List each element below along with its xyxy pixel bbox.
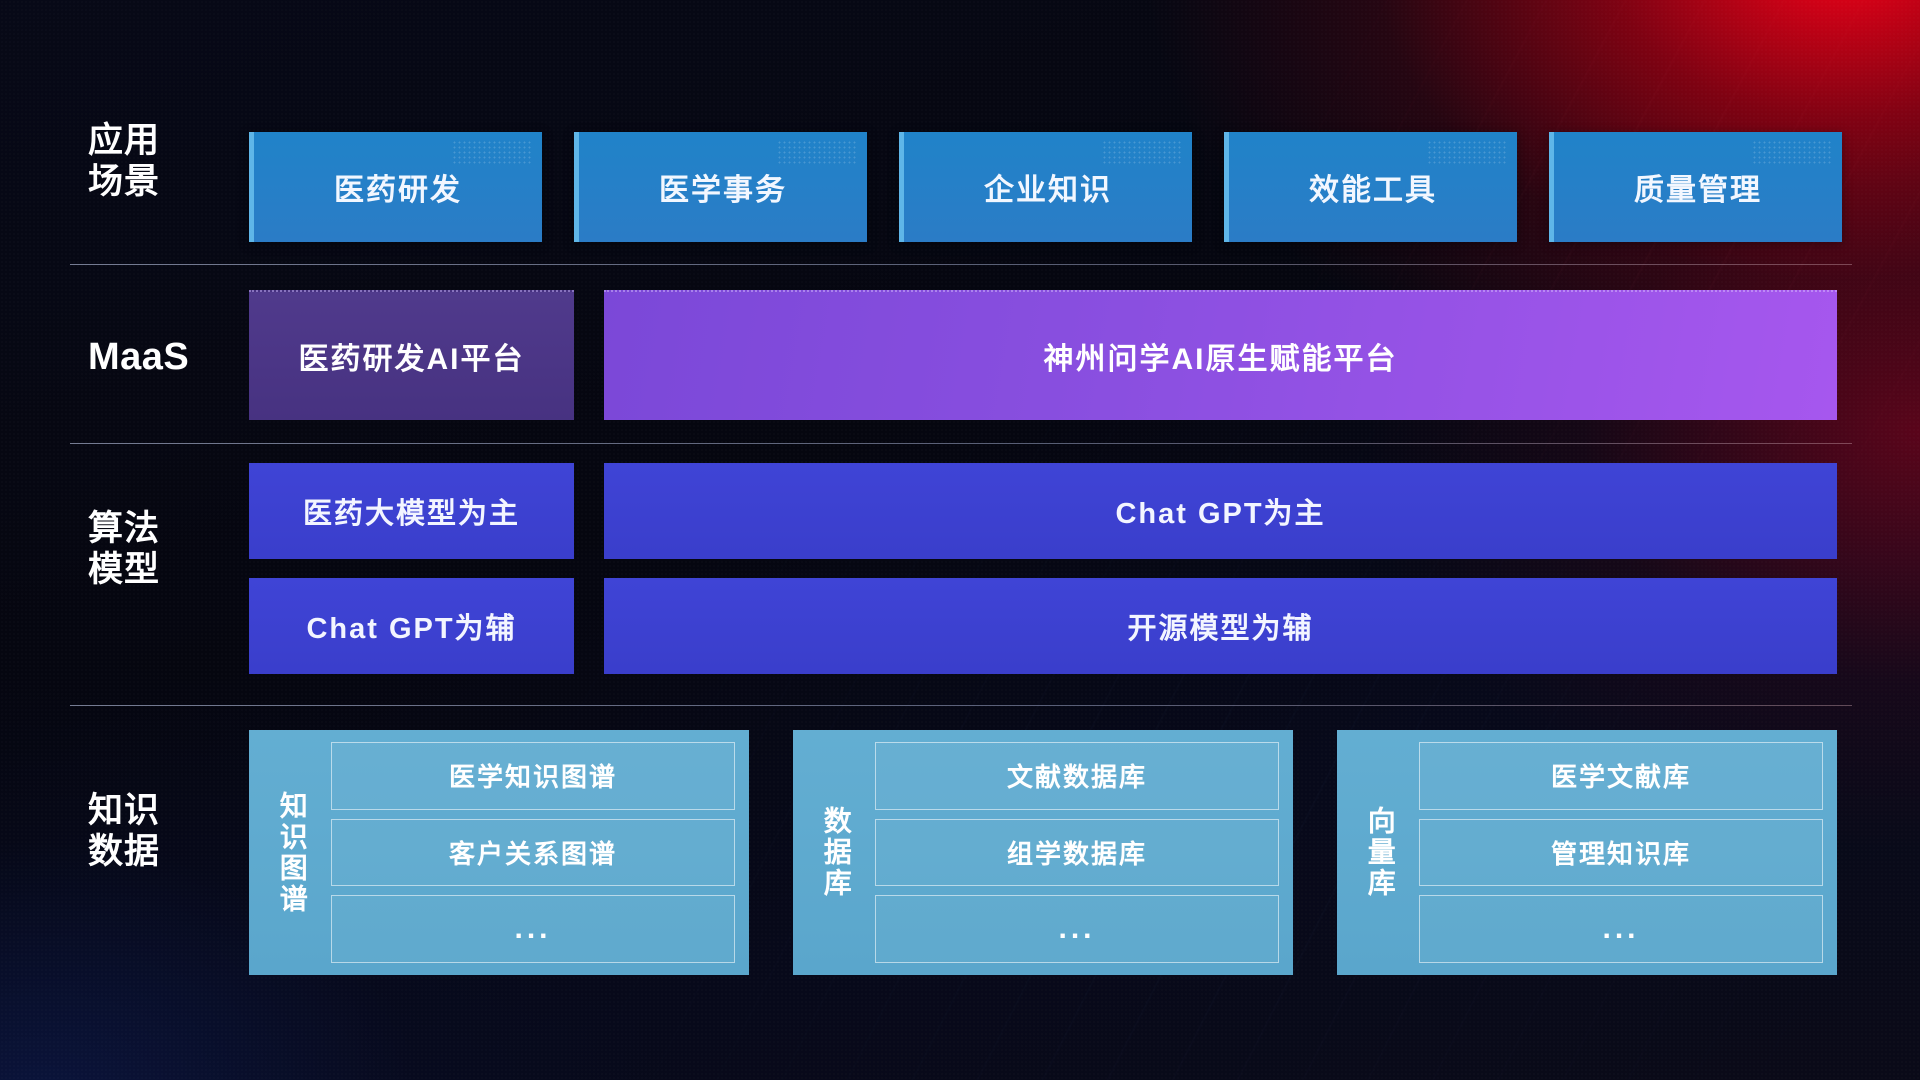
app-scenario-box-1[interactable]: 医药研发 [249, 132, 542, 242]
app-scenario-label: 企业知识 [984, 165, 1112, 209]
app-scenario-box-2[interactable]: 医学事务 [574, 132, 867, 242]
decor-dots [452, 140, 532, 166]
maas-box-shenzhou-platform[interactable]: 神州问学AI原生赋能平台 [604, 290, 1837, 420]
algo-label: Chat GPT为辅 [306, 605, 516, 647]
section-divider-3 [70, 705, 1852, 706]
knowledge-item[interactable]: 组学数据库 [875, 819, 1279, 887]
knowledge-panel-vector-store[interactable]: 向量库 医学文献库 管理知识库 ... [1337, 730, 1837, 975]
app-scenario-label: 质量管理 [1634, 165, 1762, 209]
knowledge-panel-vertical-label: 知识图谱 [259, 742, 325, 963]
algo-box-opensource-secondary[interactable]: 开源模型为辅 [604, 578, 1837, 674]
algo-label: 开源模型为辅 [1127, 605, 1313, 647]
decor-dots [777, 140, 857, 166]
maas-label: 神州问学AI原生赋能平台 [1044, 334, 1398, 378]
diagram-canvas: 应用 场景 医药研发 医学事务 企业知识 效能工具 质量管理 MaaS [0, 0, 1920, 1080]
knowledge-panel-vertical-label: 数据库 [803, 742, 869, 963]
algo-box-chatgpt-primary[interactable]: Chat GPT为主 [604, 463, 1837, 559]
app-scenario-label: 医学事务 [659, 165, 787, 209]
app-scenario-box-4[interactable]: 效能工具 [1224, 132, 1517, 242]
algo-box-drug-llm-primary[interactable]: 医药大模型为主 [249, 463, 574, 559]
maas-box-drug-rd-platform[interactable]: 医药研发AI平台 [249, 290, 574, 420]
decor-dots [1752, 140, 1832, 166]
app-scenario-box-3[interactable]: 企业知识 [899, 132, 1192, 242]
knowledge-item-list: 文献数据库 组学数据库 ... [869, 742, 1279, 963]
algo-label: Chat GPT为主 [1115, 490, 1325, 532]
knowledge-item-more[interactable]: ... [1419, 895, 1823, 963]
architecture-layers: 应用 场景 医药研发 医学事务 企业知识 效能工具 质量管理 MaaS [0, 0, 1920, 1080]
knowledge-panel-vertical-label: 向量库 [1347, 742, 1413, 963]
knowledge-item-list: 医学文献库 管理知识库 ... [1413, 742, 1823, 963]
knowledge-item[interactable]: 客户关系图谱 [331, 819, 735, 887]
decor-dots [1102, 140, 1182, 166]
app-scenario-label: 效能工具 [1309, 165, 1437, 209]
knowledge-item[interactable]: 医学文献库 [1419, 742, 1823, 810]
app-scenario-box-5[interactable]: 质量管理 [1549, 132, 1842, 242]
knowledge-item-more[interactable]: ... [875, 895, 1279, 963]
knowledge-item[interactable]: 文献数据库 [875, 742, 1279, 810]
knowledge-panel-knowledge-graph[interactable]: 知识图谱 医学知识图谱 客户关系图谱 ... [249, 730, 749, 975]
knowledge-item-list: 医学知识图谱 客户关系图谱 ... [325, 742, 735, 963]
knowledge-item[interactable]: 医学知识图谱 [331, 742, 735, 810]
maas-label: 医药研发AI平台 [299, 334, 525, 378]
knowledge-item-more[interactable]: ... [331, 895, 735, 963]
section-divider-2 [70, 443, 1852, 444]
knowledge-item[interactable]: 管理知识库 [1419, 819, 1823, 887]
app-scenario-label: 医药研发 [334, 165, 462, 209]
section-divider-1 [70, 264, 1852, 265]
algo-box-chatgpt-secondary[interactable]: Chat GPT为辅 [249, 578, 574, 674]
decor-dots [1427, 140, 1507, 166]
algo-label: 医药大模型为主 [303, 490, 520, 532]
knowledge-panel-database[interactable]: 数据库 文献数据库 组学数据库 ... [793, 730, 1293, 975]
